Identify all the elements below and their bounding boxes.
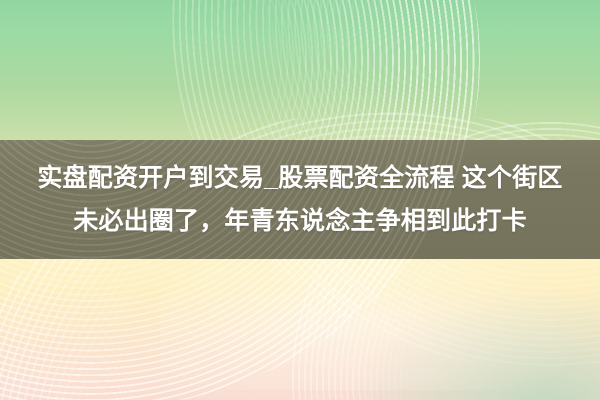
banner-image: 实盘配资开户到交易_股票配资全流程 这个街区 未必出圈了，年青东说念主争相到此打… (0, 0, 600, 400)
title-band: 实盘配资开户到交易_股票配资全流程 这个街区 未必出圈了，年青东说念主争相到此打… (0, 140, 600, 259)
banner-title-line-2: 未必出圈了，年青东说念主争相到此打卡 (73, 209, 527, 234)
banner-title-line-1: 实盘配资开户到交易_股票配资全流程 这个街区 (37, 166, 562, 191)
